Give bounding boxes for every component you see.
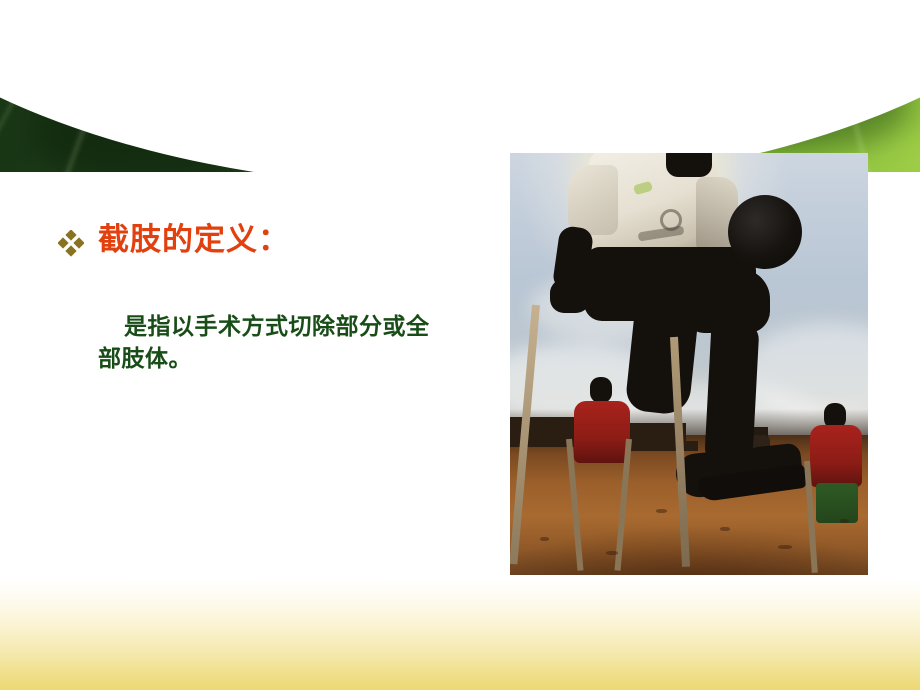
player-head	[666, 153, 712, 177]
distant-building	[628, 441, 698, 451]
player-standing-leg	[704, 320, 759, 462]
footer-gradient-band	[0, 580, 920, 690]
player-residual-limb	[624, 300, 699, 416]
player-sleeve	[568, 165, 618, 235]
football-ball	[728, 195, 802, 269]
definition-paragraph: 是指以手术方式切除部分或全部肢体。	[98, 312, 438, 375]
arc-white-cutout	[0, 0, 920, 172]
four-diamond-bullet-icon	[58, 230, 84, 260]
slide-text-block: 截肢的定义： 是指以手术方式切除部分或全部肢体。	[58, 222, 478, 375]
player-hand	[550, 279, 590, 313]
sand-speck	[778, 545, 792, 549]
sand-speck	[656, 509, 667, 513]
sand-speck	[540, 537, 549, 541]
header-leaf-banner	[0, 0, 920, 172]
sand-speck	[840, 519, 849, 523]
sand-speck	[606, 551, 618, 555]
presentation-slide: 截肢的定义： 是指以手术方式切除部分或全部肢体。	[0, 0, 920, 690]
background-player-shirt	[574, 401, 630, 463]
background-player-head	[590, 377, 612, 403]
background-player-shorts	[816, 483, 858, 523]
background-player-shirt	[810, 425, 862, 487]
heading-row: 截肢的定义：	[58, 222, 478, 260]
page-title: 截肢的定义：	[98, 222, 290, 260]
amputee-football-photo	[510, 153, 868, 575]
sand-speck	[720, 527, 730, 531]
